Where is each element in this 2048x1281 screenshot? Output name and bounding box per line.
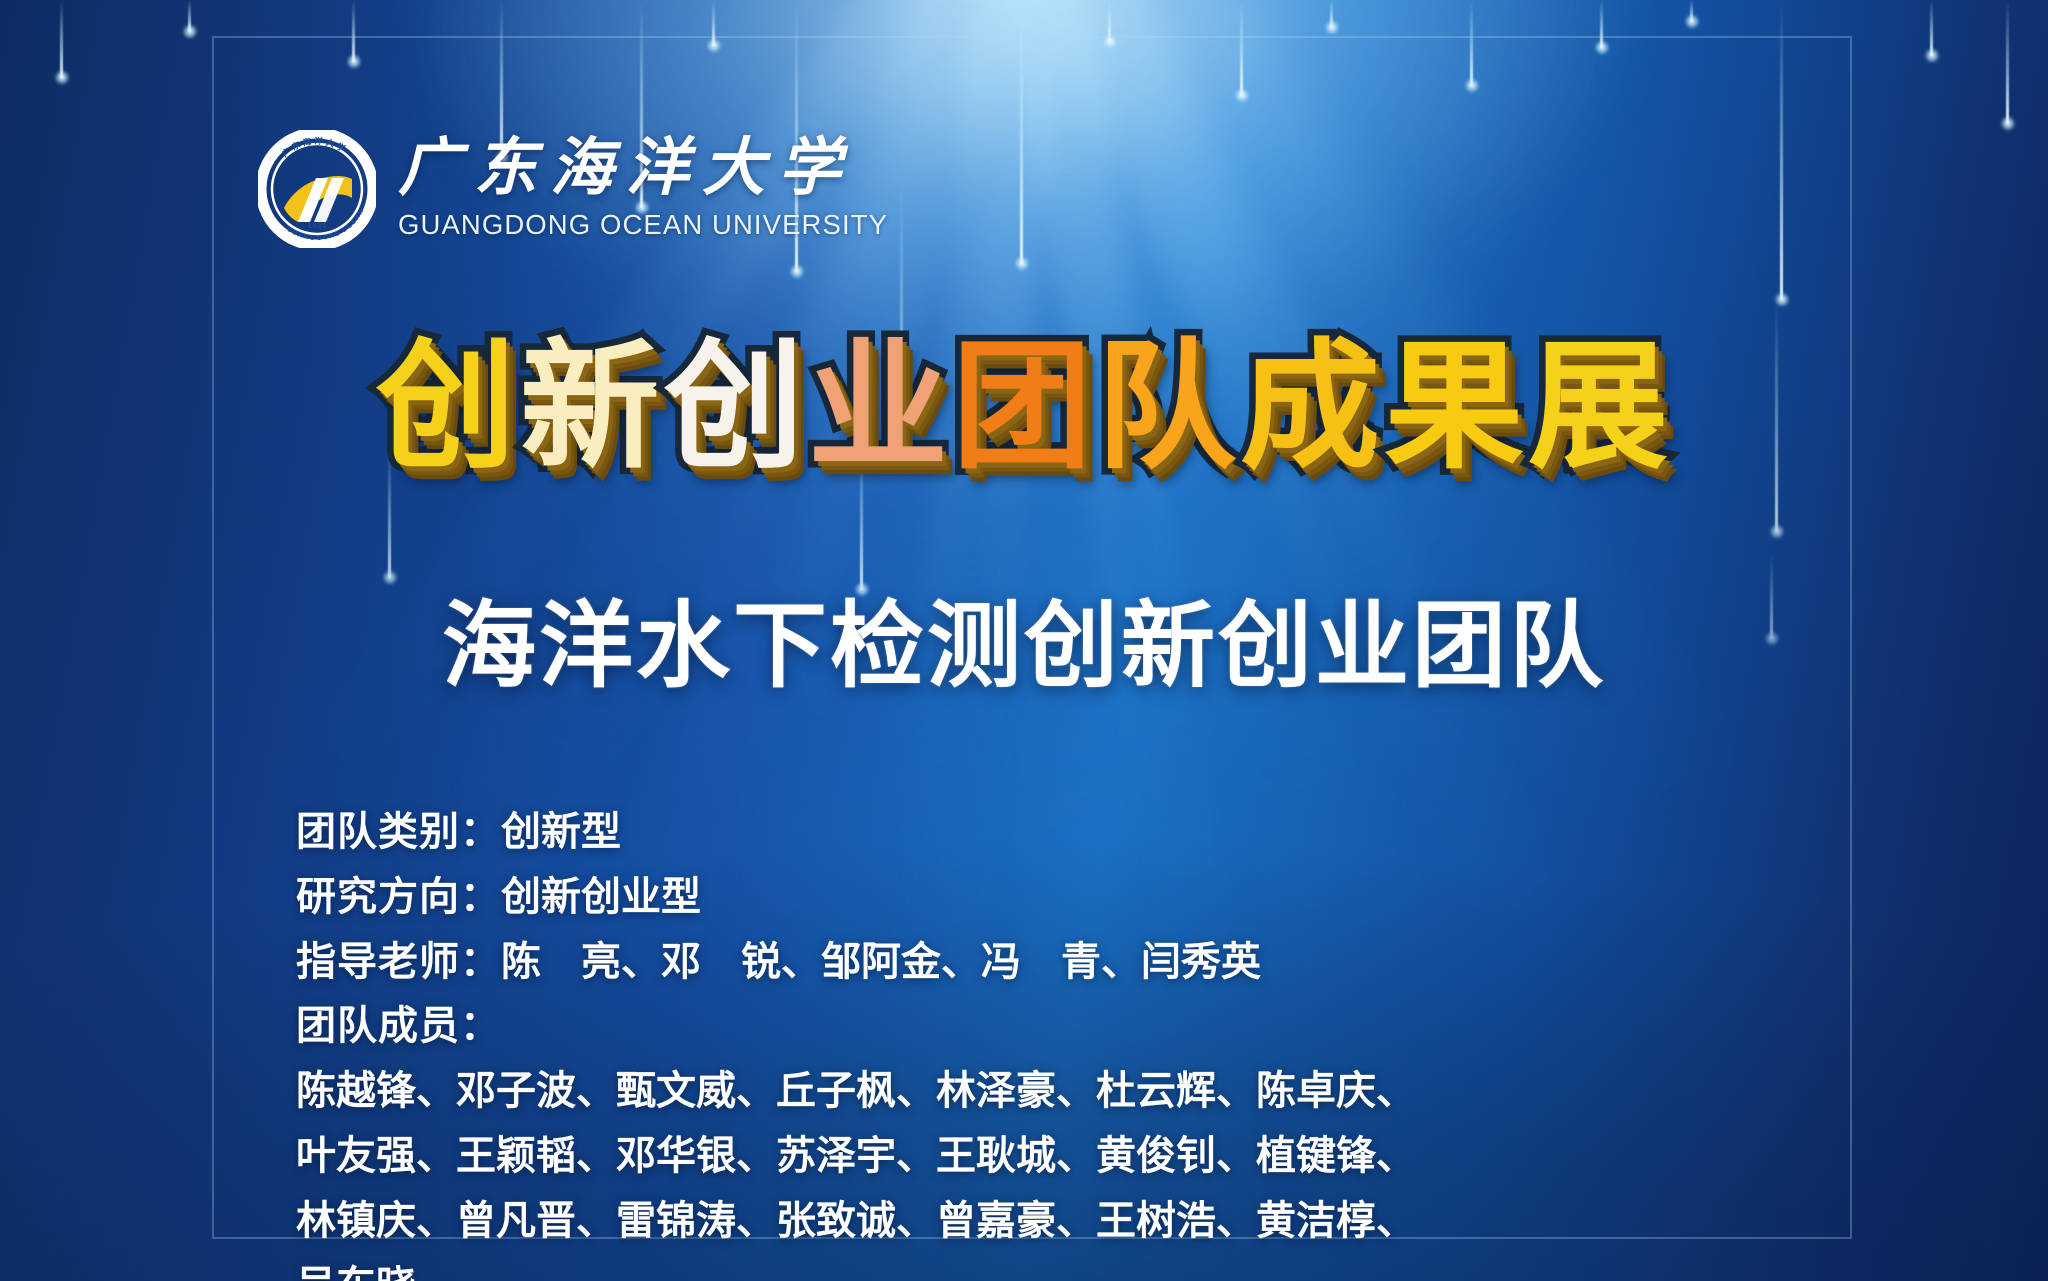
team-subtitle: 海洋水下检测创新创业团队 bbox=[0, 570, 2048, 706]
title-char-5: 队 bbox=[1096, 338, 1240, 478]
institution-name-cn: 广东海洋大学 bbox=[398, 136, 888, 200]
research-direction-value: 创新创业型 bbox=[501, 874, 701, 920]
members-line-1: 叶友强、王颖韬、邓华银、苏泽宇、王耿城、黄俊钊、植键锋、 bbox=[296, 1124, 1808, 1189]
institution-name-en: GUANGDONG OCEAN UNIVERSITY bbox=[398, 209, 888, 241]
title-char-4: 团 bbox=[952, 338, 1096, 478]
title-char-2: 创 bbox=[664, 338, 808, 478]
svg-text:洋: 洋 bbox=[314, 136, 323, 147]
institution-name-block: 广东海洋大学 GUANGDONG OCEAN UNIVERSITY bbox=[398, 130, 888, 241]
members-value: 陈越锋、邓子波、甄文威、丘子枫、林泽豪、杜云辉、陈卓庆、叶友强、王颖韬、邓华银、… bbox=[296, 1059, 1808, 1281]
info-row-research-direction: 研究方向：创新创业型 bbox=[296, 865, 1808, 930]
title-char-3: 业 bbox=[808, 338, 952, 478]
team-info-block: 团队类别：创新型 研究方向：创新创业型 指导老师：陈 亮、邓 锐、邹阿金、冯 青… bbox=[296, 800, 1808, 1281]
svg-text:G: G bbox=[309, 234, 315, 241]
info-row-members: 团队成员： 陈越锋、邓子波、甄文威、丘子枫、林泽豪、杜云辉、陈卓庆、叶友强、王颖… bbox=[296, 994, 1808, 1281]
institution-header: 广 东 海 洋 大 学 G U A N G D O N G O bbox=[258, 130, 888, 248]
title-char-8: 展 bbox=[1528, 338, 1672, 478]
title-char-0: 创 bbox=[376, 338, 520, 478]
info-row-team-category: 团队类别：创新型 bbox=[296, 800, 1808, 865]
seal-year-text: 1935 bbox=[307, 222, 327, 230]
title-char-7: 果 bbox=[1384, 338, 1528, 478]
svg-text:D: D bbox=[317, 235, 322, 242]
advisors-value: 陈 亮、邓 锐、邹阿金、冯 青、闫秀英 bbox=[501, 939, 1261, 985]
advisors-label: 指导老师： bbox=[296, 939, 501, 985]
main-title-wrap: 创新创业团队成果展 bbox=[0, 338, 2048, 478]
members-label: 团队成员： bbox=[296, 1003, 501, 1049]
university-seal-logo: 广 东 海 洋 大 学 G U A N G D O N G O bbox=[258, 130, 376, 248]
members-line-3: 吴东晓 bbox=[296, 1254, 1808, 1281]
title-char-6: 成 bbox=[1240, 338, 1384, 478]
members-line-0: 陈越锋、邓子波、甄文威、丘子枫、林泽豪、杜云辉、陈卓庆、 bbox=[296, 1059, 1808, 1124]
research-direction-label: 研究方向： bbox=[296, 874, 501, 920]
info-row-advisors: 指导老师：陈 亮、邓 锐、邹阿金、冯 青、闫秀英 bbox=[296, 930, 1808, 995]
main-title: 创新创业团队成果展 bbox=[376, 338, 1672, 478]
members-line-2: 林镇庆、曾凡晋、雷锦涛、张致诚、曾嘉豪、王树浩、黄洁椁、 bbox=[296, 1189, 1808, 1254]
title-char-1: 新 bbox=[520, 338, 664, 478]
team-category-value: 创新型 bbox=[501, 809, 621, 855]
team-category-label: 团队类别： bbox=[296, 809, 501, 855]
poster-canvas: 广 东 海 洋 大 学 G U A N G D O N G O bbox=[0, 0, 2048, 1281]
